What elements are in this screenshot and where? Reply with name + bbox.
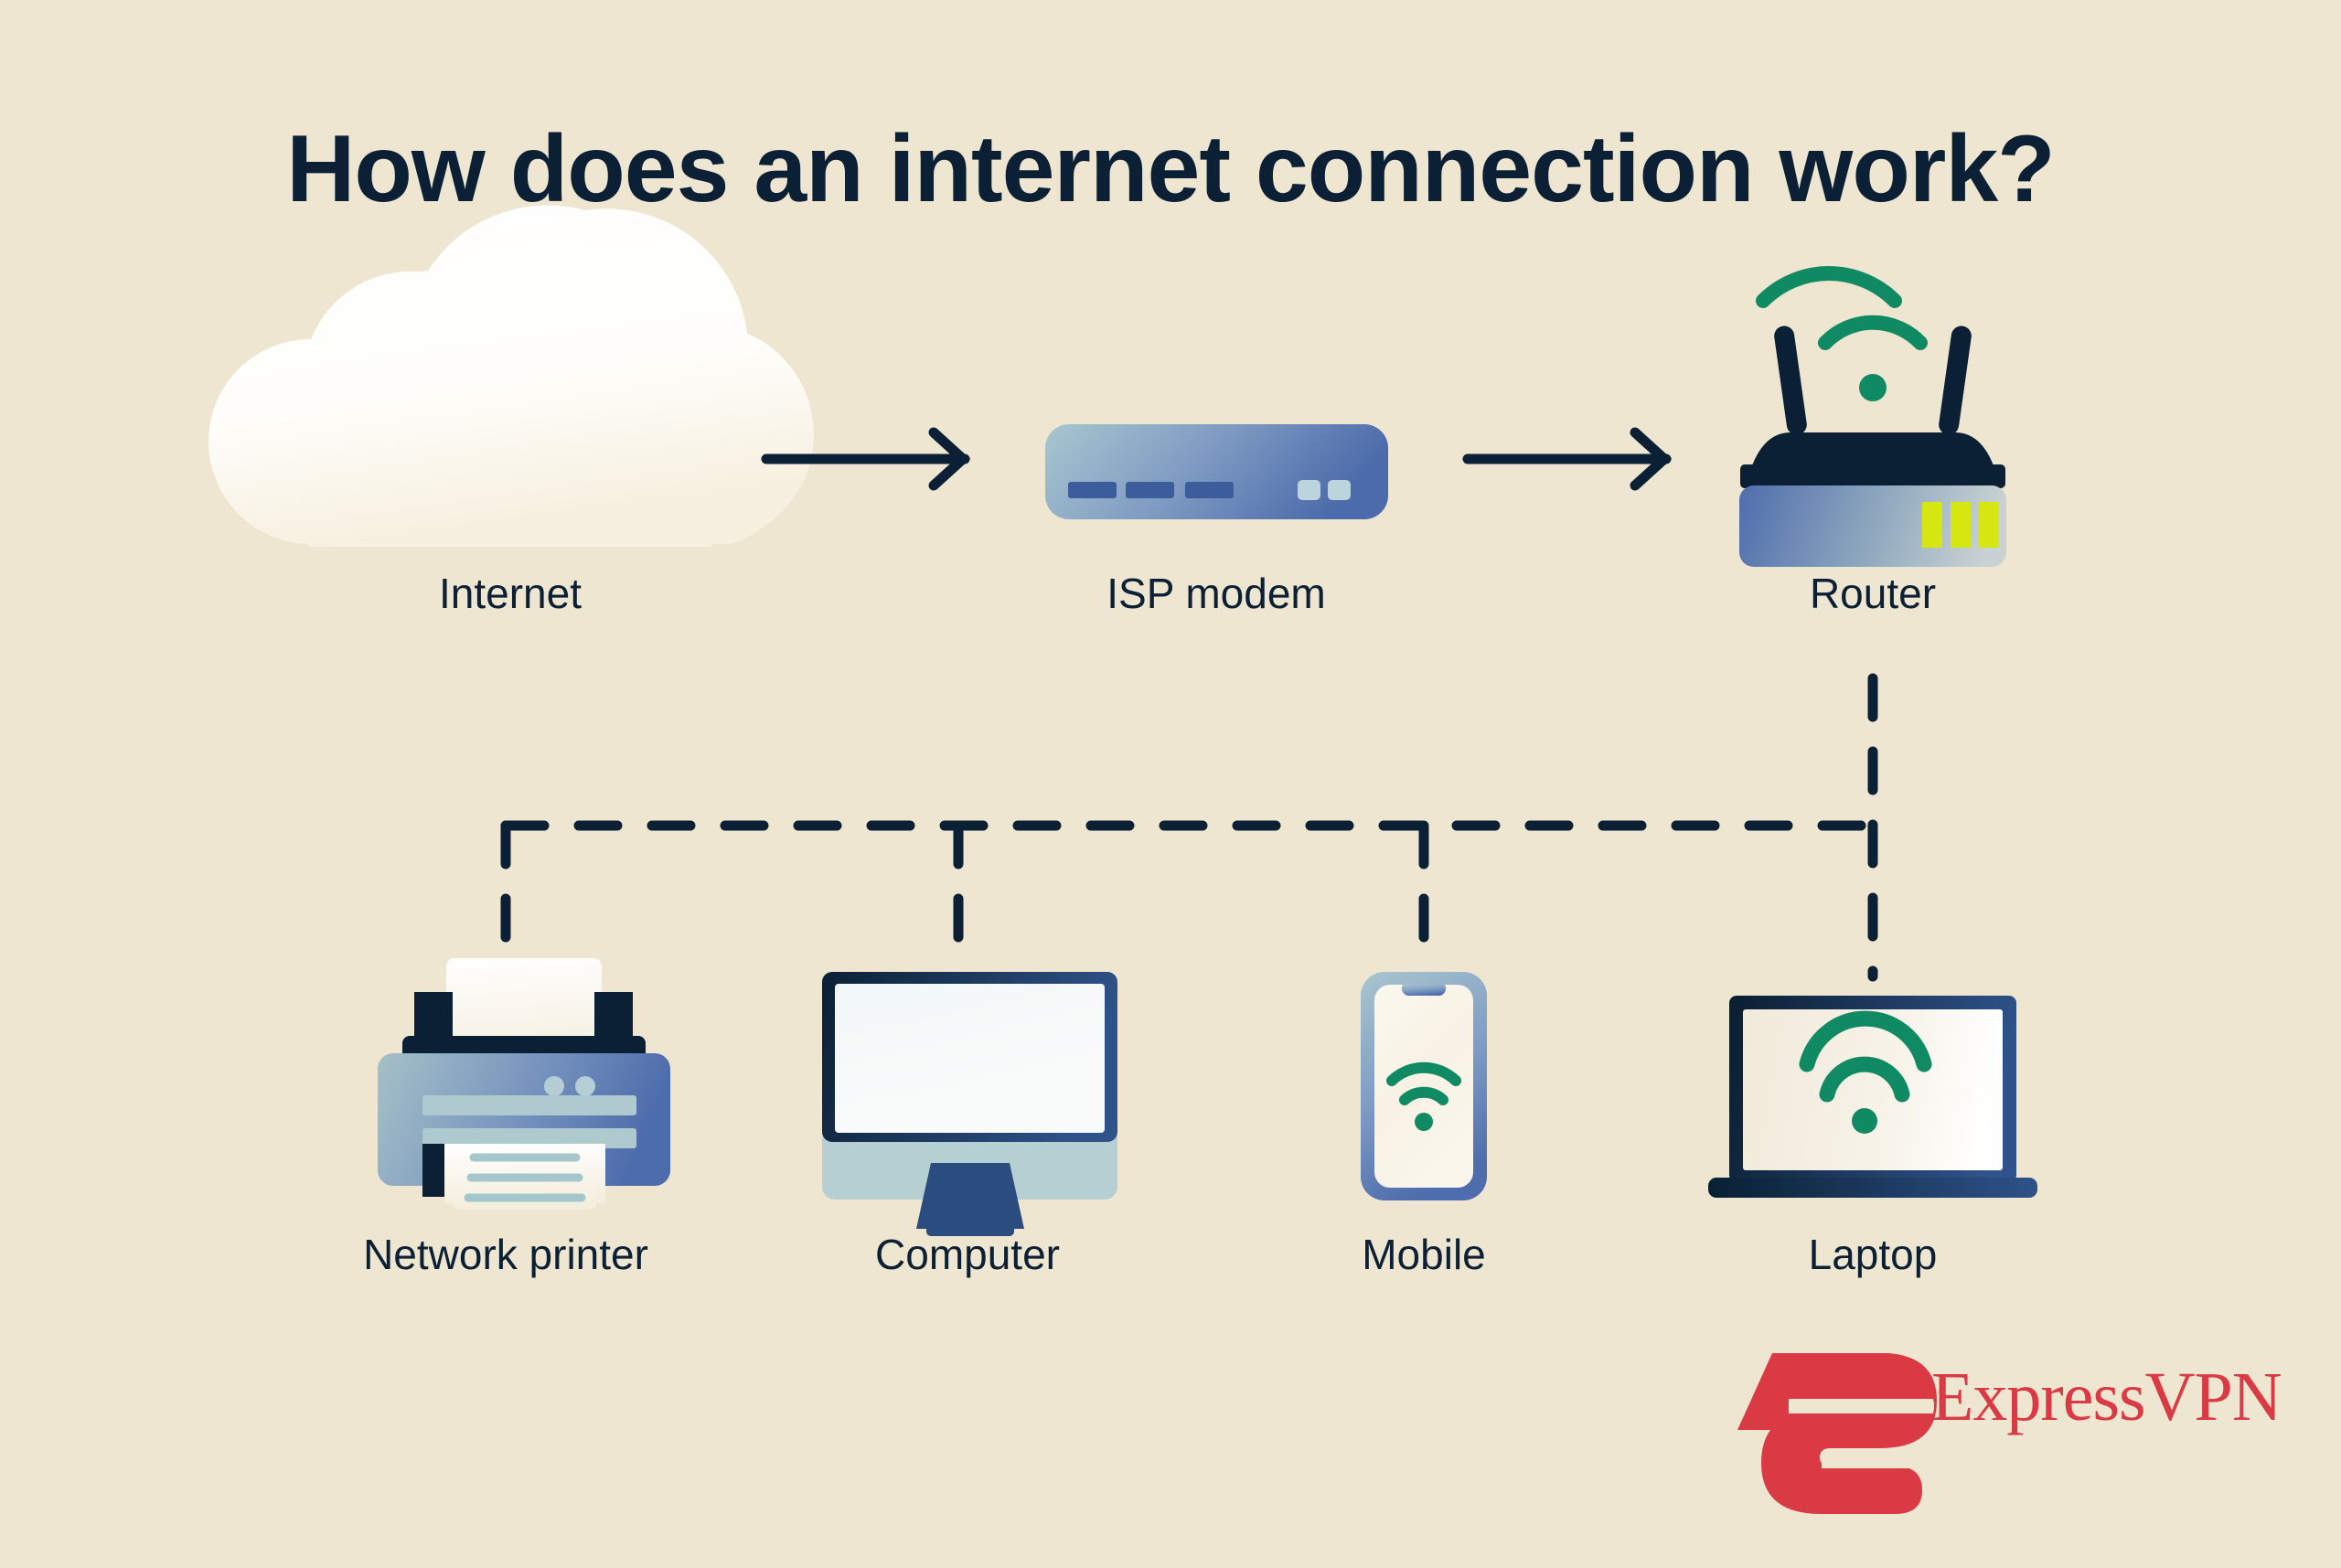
printer-icon (378, 958, 670, 1210)
laptop-icon (1708, 996, 2037, 1198)
cloud-icon (208, 206, 814, 547)
diagram-artwork (0, 0, 2341, 1568)
brand-wordmark: ExpressVPN (1931, 1362, 2282, 1432)
label-router: Router (1726, 569, 2019, 618)
dashed-connector-bus (506, 678, 1873, 976)
smartphone-icon (1361, 972, 1487, 1200)
desktop-monitor-icon (822, 972, 1117, 1236)
arrow-modem-to-router (1468, 432, 1666, 485)
label-mobile: Mobile (1277, 1230, 1570, 1279)
label-laptop: Laptop (1726, 1230, 2019, 1279)
label-computer: Computer (812, 1230, 1123, 1279)
modem-icon (1045, 424, 1388, 519)
expressvpn-brand: ExpressVPN (1742, 1362, 2282, 1432)
router-icon (1739, 273, 2006, 567)
diagram-canvas: How does an internet connection work? (0, 0, 2341, 1568)
label-isp-modem: ISP modem (1070, 569, 1363, 618)
label-network-printer: Network printer (341, 1230, 670, 1279)
label-internet: Internet (364, 569, 657, 618)
